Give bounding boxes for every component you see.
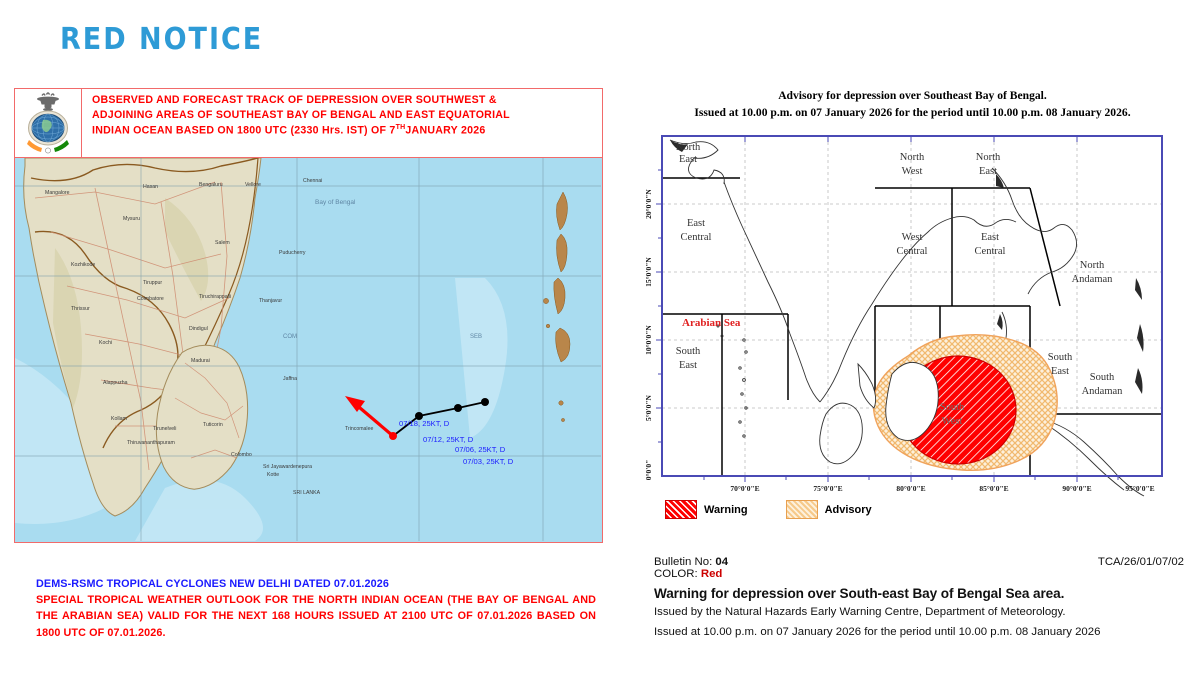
advisory-swatch-icon (786, 500, 818, 519)
legend-label-warning: Warning (704, 504, 748, 516)
svg-text:Tuticorin: Tuticorin (203, 422, 223, 428)
svg-text:Madurai: Madurai (191, 358, 210, 364)
zone-label-east-central-arabian-2: Central (681, 232, 712, 243)
india-meteorological-department-emblem (23, 92, 73, 154)
bulletin-color-row: COLOR: Red (654, 568, 1184, 580)
zone-label-east-central-bob: East (981, 232, 999, 243)
imd-track-map: Bay of Bengal COM SEB Mangalore Hasan Be… (14, 158, 603, 543)
svg-text:Kozhikode: Kozhikode (71, 262, 95, 268)
x-tick-1: 75°0'0"E (813, 484, 842, 493)
x-tick-2: 80°0'0"E (896, 484, 925, 493)
svg-text:Chennai: Chennai (303, 178, 322, 184)
y-tick-3: 5°0'0"N (644, 394, 653, 420)
zone-label-south-andaman-2: Andaman (1082, 386, 1124, 397)
bulletin-number-label: Bulletin No: (654, 556, 712, 568)
svg-text:Colombo: Colombo (231, 452, 252, 458)
zone-label-north-east-bob-2: East (979, 166, 997, 177)
x-tick-4: 90°0'0"E (1062, 484, 1091, 493)
zone-label-south-east-arabian-2: East (679, 360, 697, 371)
track-label-0712: 07/12, 25KT, D (423, 435, 474, 444)
zone-label-north-andaman: North (1080, 260, 1105, 271)
x-tick-0: 70°0'0"E (730, 484, 759, 493)
legend-label-advisory: Advisory (825, 504, 872, 516)
zone-label-south-west-bob-2: West (942, 416, 963, 427)
y-tick-1: 15°0'0"N (644, 256, 653, 286)
svg-text:Hasan: Hasan (143, 184, 158, 190)
imd-emblem-cell (15, 89, 82, 157)
advisory-title-line-1: Advisory for depression over Southeast B… (778, 89, 1047, 102)
svg-text:Kochi: Kochi (99, 340, 112, 346)
bulletin-block: Bulletin No: 04 TCA/26/01/07/02 COLOR: R… (654, 556, 1184, 640)
bulletin-color-value: Red (701, 568, 723, 580)
zone-label-south-andaman: South (1090, 372, 1115, 383)
imd-header-line-3: INDIAN OCEAN BASED ON 1800 UTC (2330 Hrs… (92, 125, 396, 137)
advisory-map: North East East Central South East North… (640, 128, 1185, 528)
caption-blue-line: DEMS-RSMC TROPICAL CYCLONES NEW DELHI DA… (36, 576, 596, 592)
advisory-panel: Advisory for depression over Southeast B… (640, 88, 1185, 658)
sea-code-label-seb: SEB (470, 334, 482, 340)
bulletin-subline-1: Issued by the Natural Hazards Early Warn… (654, 604, 1184, 621)
y-tick-2: 10°0'0"N (644, 324, 653, 354)
svg-text:Coimbatore: Coimbatore (137, 296, 164, 302)
svg-text:Tirunelveli: Tirunelveli (153, 426, 176, 432)
zone-label-east-central-bob-2: Central (975, 246, 1006, 257)
svg-text:Mysuru: Mysuru (123, 216, 140, 222)
map-legend: Warning Advisory (665, 500, 872, 519)
zone-label-north-east-arabian-2: East (679, 154, 697, 165)
svg-text:Kotte: Kotte (267, 472, 279, 478)
imd-header-text: OBSERVED AND FORECAST TRACK OF DEPRESSIO… (82, 89, 602, 157)
bulletin-number: Bulletin No: 04 (654, 556, 728, 568)
svg-text:Kollam: Kollam (111, 416, 127, 422)
x-tick-3: 85°0'0"E (979, 484, 1008, 493)
svg-text:Thanjavur: Thanjavur (259, 298, 282, 304)
bulletin-color-label: COLOR: (654, 568, 698, 580)
bulletin-subline-2: Issued at 10.00 p.m. on 07 January 2026 … (654, 624, 1184, 641)
svg-text:Tiruppur: Tiruppur (143, 280, 162, 286)
svg-text:Tiruchirappalli: Tiruchirappalli (199, 294, 231, 300)
zone-label-north-east-arabian: North (676, 142, 701, 153)
svg-text:Trincomalee: Trincomalee (345, 426, 373, 432)
page-title: RED NOTICE (60, 22, 263, 57)
bulletin-number-row: Bulletin No: 04 TCA/26/01/07/02 (654, 556, 1184, 568)
track-point-0703 (481, 398, 489, 406)
zone-label-east-central-arabian: East (687, 218, 705, 229)
bulletin-number-value: 04 (715, 556, 728, 568)
zone-label-south-east-bob-2: East (1051, 366, 1069, 377)
svg-text:Dindigul: Dindigul (189, 326, 208, 332)
imd-header-line-tail: JANUARY 2026 (405, 125, 485, 137)
warning-swatch-icon (665, 500, 697, 519)
legend-item-advisory: Advisory (786, 500, 872, 519)
svg-text:Jaffna: Jaffna (283, 376, 297, 382)
advisory-map-svg: North East East Central South East North… (640, 128, 1185, 528)
imd-header-line-1: OBSERVED AND FORECAST TRACK OF DEPRESSIO… (92, 94, 497, 106)
zone-label-south-east-bob: South (1048, 352, 1073, 363)
track-label-0703: 07/03, 25KT, D (463, 457, 514, 466)
imd-header-line-2: ADJOINING AREAS OF SOUTHEAST BAY OF BENG… (92, 109, 510, 121)
svg-text:Puducherry: Puducherry (279, 250, 306, 256)
zone-label-arabian-sea: Arabian Sea (682, 317, 741, 329)
svg-text:Alappuzha: Alappuzha (103, 380, 128, 386)
svg-text:Vellore: Vellore (245, 182, 261, 188)
track-label-0718: 07/18, 25KT, D (399, 419, 450, 428)
imd-header-superscript: TH (396, 124, 406, 131)
zone-label-south-west-bob: South (940, 402, 965, 413)
zone-label-west-central-bob-2: Central (897, 246, 928, 257)
advisory-title-line-2: Issued at 10.00 p.m. on 07 January 2026 … (694, 106, 1130, 119)
zone-label-north-west-bob-2: West (902, 166, 923, 177)
left-panel-caption: DEMS-RSMC TROPICAL CYCLONES NEW DELHI DA… (36, 576, 596, 641)
legend-item-warning: Warning (665, 500, 748, 519)
svg-text:Salem: Salem (215, 240, 230, 246)
caption-red-block: SPECIAL TROPICAL WEATHER OUTLOOK FOR THE… (36, 592, 596, 641)
zone-label-north-east-bob: North (976, 152, 1001, 163)
svg-text:Mangalore: Mangalore (45, 190, 70, 196)
imd-header-bar: OBSERVED AND FORECAST TRACK OF DEPRESSIO… (14, 88, 603, 158)
ocean-label-bay-of-bengal: Bay of Bengal (315, 199, 356, 206)
svg-text:SRI LANKA: SRI LANKA (293, 490, 321, 496)
imd-track-panel: OBSERVED AND FORECAST TRACK OF DEPRESSIO… (14, 88, 603, 543)
svg-text:Sri Jayawardenepura: Sri Jayawardenepura (263, 464, 312, 470)
svg-text:Bengaluru: Bengaluru (199, 182, 223, 188)
zone-label-north-west-bob: North (900, 152, 925, 163)
ocean-code-label-com: COM (283, 334, 297, 340)
zone-label-north-andaman-2: Andaman (1072, 274, 1114, 285)
x-tick-5: 95°0'0"E (1125, 484, 1154, 493)
y-tick-0: 20°0'0"N (644, 188, 653, 218)
x-axis-tick-labels: 70°0'0"E 75°0'0"E 80°0'0"E 85°0'0"E 90°0… (730, 484, 1154, 493)
svg-text:Thiruvananthapuram: Thiruvananthapuram (127, 440, 175, 446)
y-tick-4: 0°0'0" (644, 459, 653, 480)
bulletin-headline: Warning for depression over South-east B… (654, 586, 1184, 601)
zone-label-west-central-bob: West (902, 232, 923, 243)
track-point-0706 (454, 404, 462, 412)
track-label-0706: 07/06, 25KT, D (455, 445, 506, 454)
track-map-svg: Bay of Bengal COM SEB Mangalore Hasan Be… (15, 158, 601, 541)
zone-label-south-east-arabian: South (676, 346, 701, 357)
svg-text:Thrissur: Thrissur (71, 306, 90, 312)
advisory-title: Advisory for depression over Southeast B… (640, 88, 1185, 122)
bulletin-code: TCA/26/01/07/02 (1098, 556, 1184, 568)
y-axis-tick-labels: 20°0'0"N 15°0'0"N 10°0'0"N 5°0'0"N 0°0'0… (644, 188, 653, 480)
